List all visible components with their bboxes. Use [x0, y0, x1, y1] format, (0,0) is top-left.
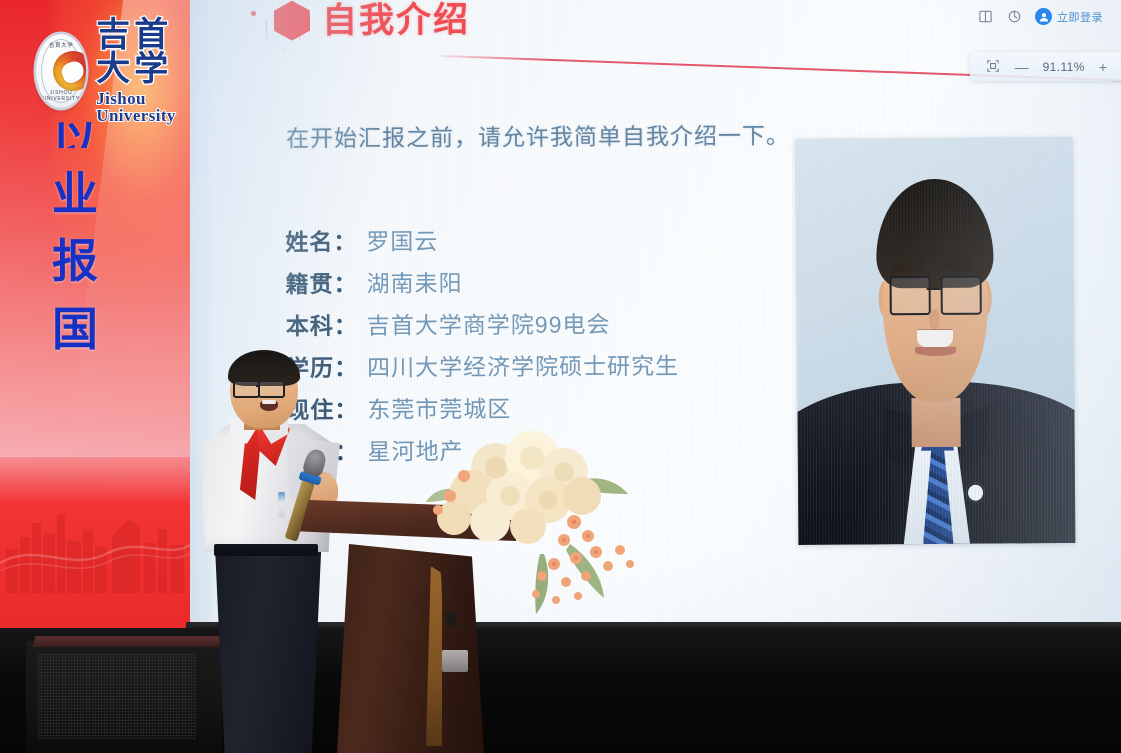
- loudspeaker-grille: [38, 653, 196, 739]
- login-label: 立即登录: [1057, 9, 1103, 25]
- university-name-block: 吉首大学 Jishou University: [96, 18, 190, 124]
- bio-label: 姓名: [285, 223, 333, 257]
- zoom-out-button[interactable]: —: [1015, 60, 1029, 74]
- bio-colon: ：: [334, 307, 357, 341]
- bio-label: 本科: [286, 307, 334, 341]
- podium-plate: [442, 650, 468, 672]
- university-emblem-icon: 吉首大学 JISHOU UNIVERSITY: [36, 34, 86, 108]
- motto-char: 国: [52, 309, 98, 350]
- emblem-text-top: 吉首大学: [36, 41, 86, 49]
- fit-page-icon[interactable]: [986, 59, 1001, 74]
- slide-title-row: 自我介绍: [270, 0, 470, 43]
- zoom-level-label: 91.11%: [1043, 60, 1085, 74]
- speaker-portrait-photo: [796, 137, 1076, 545]
- university-logo: 吉首大学 JISHOU UNIVERSITY 吉首大学 Jishou Unive…: [36, 18, 190, 124]
- motto-char: 报: [52, 241, 98, 282]
- bio-colon: ：: [333, 223, 356, 257]
- zoom-control-bar[interactable]: — 91.11% +: [970, 52, 1121, 81]
- bio-label: 籍贯: [285, 265, 333, 299]
- venue-red-banner: 吉首大学 JISHOU UNIVERSITY 吉首大学 Jishou Unive…: [0, 0, 190, 637]
- presenter-glasses-right: [258, 380, 285, 398]
- hexagon-icon: [270, 0, 310, 43]
- motto-char: 以: [52, 122, 98, 148]
- bio-row: 姓名 ： 罗国云: [285, 221, 678, 257]
- zoom-in-button[interactable]: +: [1099, 60, 1107, 74]
- slide-lead-text: 在开始汇报之前，请允许我简单自我介绍一下。: [286, 116, 790, 153]
- emblem-text-bottom: JISHOU UNIVERSITY: [36, 90, 86, 102]
- presentation-photo-scene: 自我介绍 在开始汇报之前，请允许我简单自我介绍一下。 姓名 ： 罗国云 籍贯 ：…: [0, 0, 1121, 753]
- bullet-dot-icon: [251, 11, 256, 16]
- flower-bouquet: [424, 424, 656, 620]
- presenter-glasses-left: [233, 380, 260, 398]
- book-page-icon[interactable]: [977, 8, 994, 25]
- user-avatar-icon: [1035, 8, 1052, 25]
- presenter-teeth: [262, 400, 276, 404]
- viewer-toolbar[interactable]: 立即登录: [967, 4, 1113, 29]
- vertical-motto: 以 业 报 国: [52, 122, 98, 350]
- bio-value: 四川大学经济学院硕士研究生: [367, 347, 679, 383]
- bio-row: 本科 ： 吉首大学商学院99电会: [286, 305, 679, 341]
- motto-char: 业: [52, 174, 98, 215]
- portrait-scanline-overlay: [796, 137, 1076, 545]
- slide-title: 自我介绍: [322, 2, 470, 38]
- bio-value: 东莞市莞城区: [367, 390, 511, 425]
- bio-value: 罗国云: [366, 222, 438, 256]
- bio-value: 吉首大学商学院99电会: [367, 305, 611, 340]
- university-name-en: Jishou University: [96, 90, 190, 124]
- bio-colon: ：: [333, 265, 356, 299]
- login-button[interactable]: 立即登录: [1035, 8, 1103, 25]
- presenter-glasses-bridge: [256, 385, 260, 387]
- bio-row: 籍贯 ： 湖南耒阳: [285, 263, 678, 299]
- help-circle-icon[interactable]: [1006, 8, 1023, 25]
- banner-wave-graphic: [0, 529, 190, 579]
- bio-value: 湖南耒阳: [366, 264, 462, 299]
- university-name-cn: 吉首大学: [96, 18, 190, 86]
- presenter-lanyard: [278, 492, 285, 518]
